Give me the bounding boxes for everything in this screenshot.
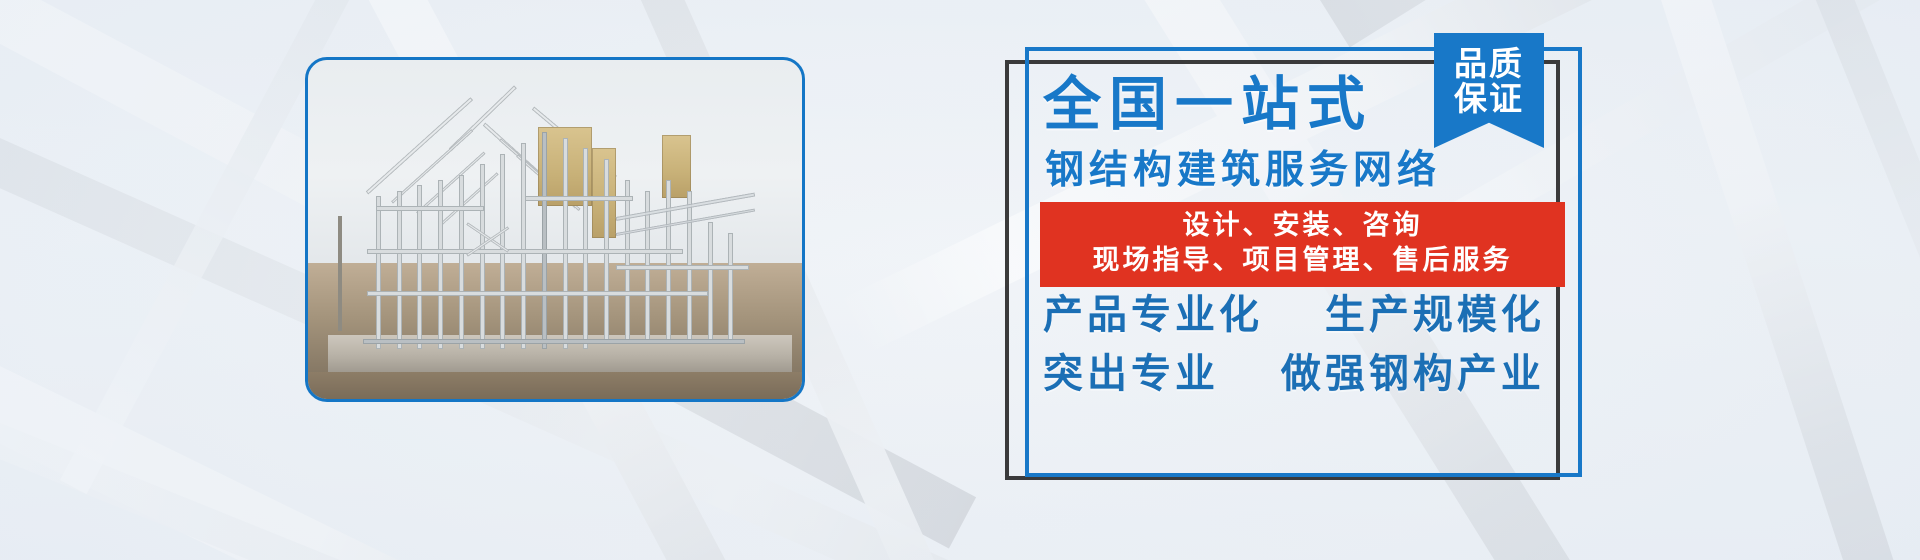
photo-dirt [308, 372, 802, 399]
construction-photo-card [305, 57, 805, 402]
slogan-1a: 产品专业化 [1043, 292, 1263, 338]
slogan-2a: 突出专业 [1043, 351, 1219, 397]
subheadline: 钢结构建筑服务网络 [1045, 151, 1441, 190]
slogan-line-1: 产品专业化 生产规模化 [1043, 295, 1545, 335]
slogan-line-2: 突出专业 做强钢构产业 [1043, 354, 1545, 394]
ribbon-line-2: 保证 [1454, 82, 1524, 117]
services-box: 设计、安装、咨询 现场指导、项目管理、售后服务 [1040, 202, 1565, 287]
photo-utility-pole [338, 216, 342, 331]
slogan-1b: 生产规模化 [1325, 292, 1545, 338]
headline: 全国一站式 [1043, 75, 1373, 133]
steel-structure-banner: 全国一站式 钢结构建筑服务网络 设计、安装、咨询 现场指导、项目管理、售后服务 … [0, 0, 1920, 560]
ribbon-line-1: 品质 [1454, 47, 1524, 82]
slogan-2b: 做强钢构产业 [1281, 351, 1545, 397]
services-line-2: 现场指导、项目管理、售后服务 [1040, 244, 1565, 279]
photo-steel-frame-house [343, 101, 758, 365]
background-vignette [0, 0, 1920, 560]
services-line-1: 设计、安装、咨询 [1040, 209, 1565, 244]
construction-photo [308, 60, 802, 399]
